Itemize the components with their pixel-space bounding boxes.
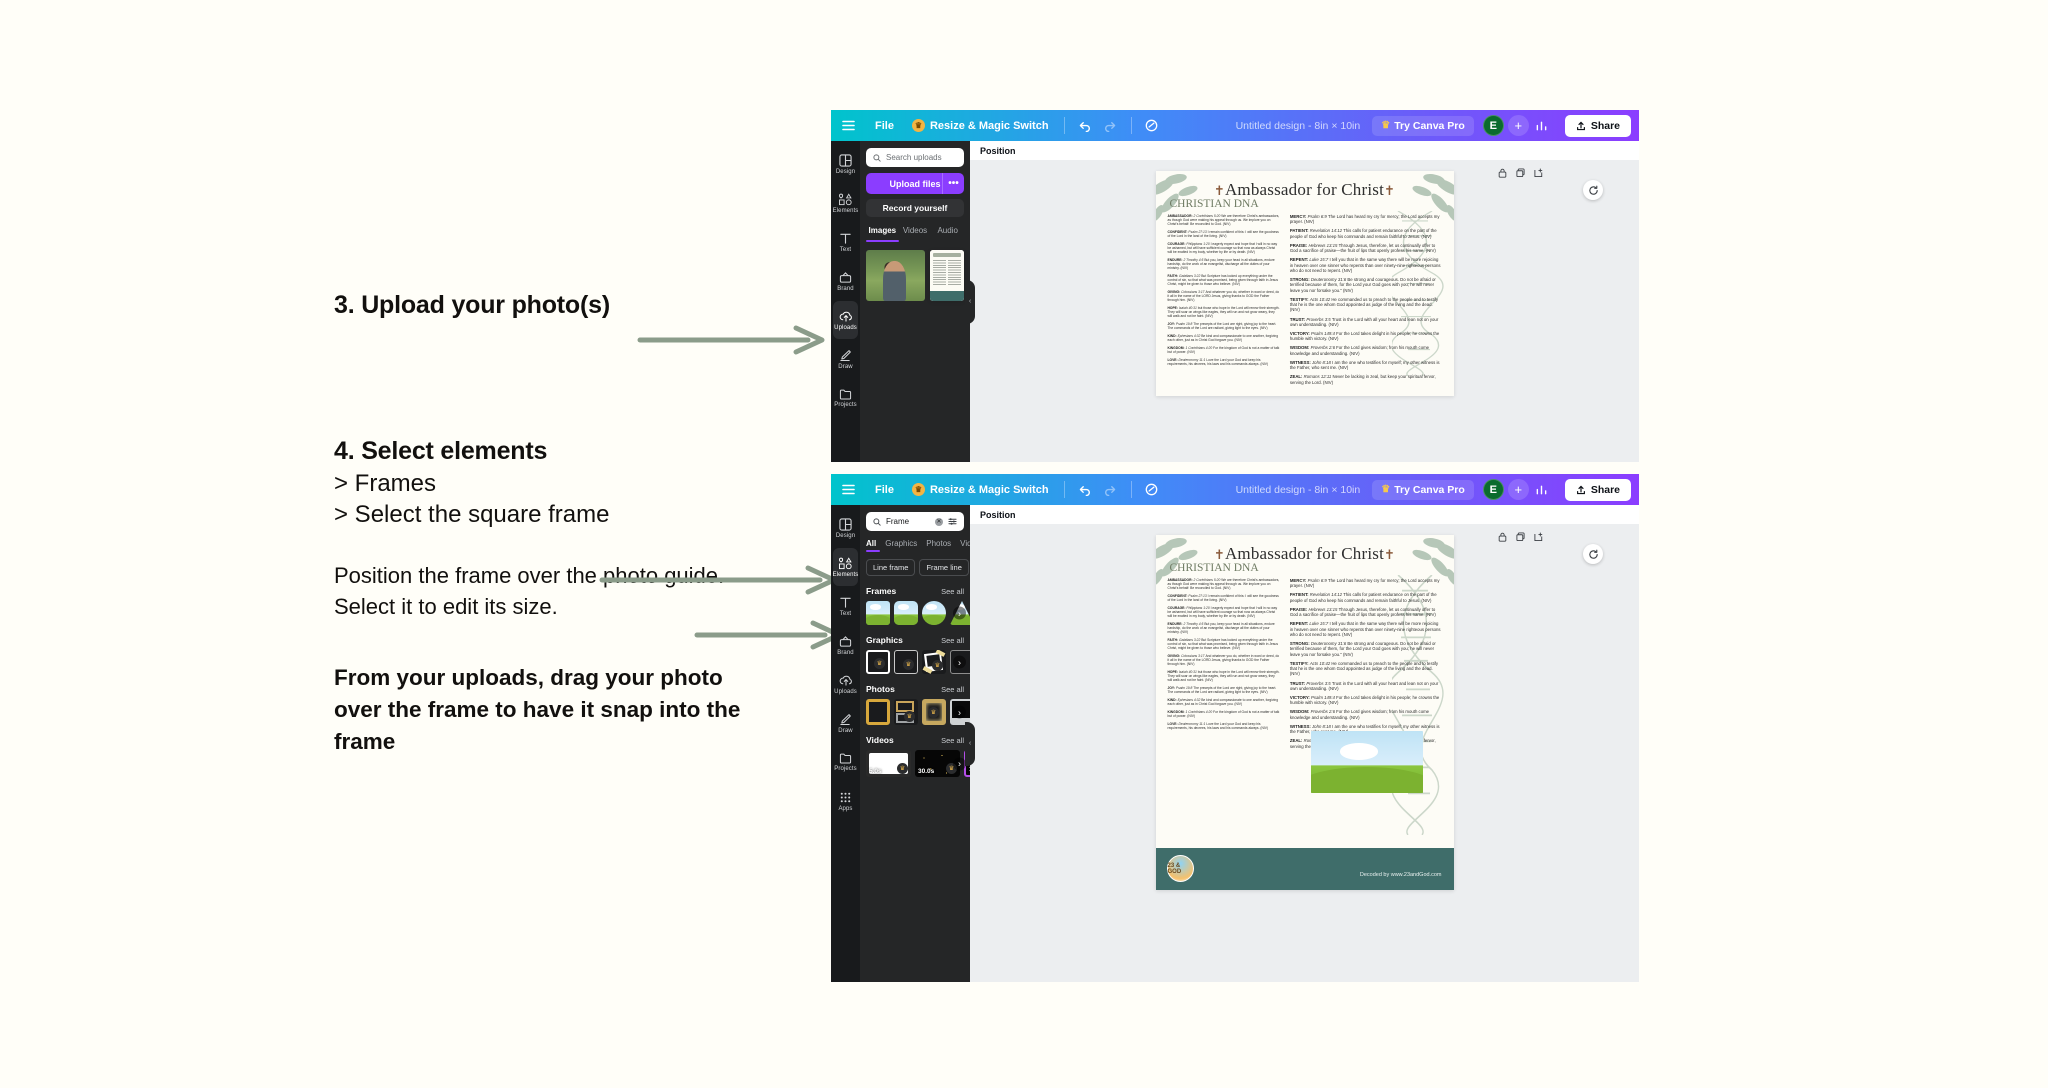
uploads-tabs: Images Videos Audio xyxy=(866,226,964,240)
hamburger-menu-icon[interactable] xyxy=(831,120,865,131)
upload-thumbnail-photo[interactable] xyxy=(866,250,925,301)
instructions-column: 3. Upload your photo(s) 4. Select elemen… xyxy=(334,290,814,758)
share-label: Share xyxy=(1591,120,1620,132)
sidebar-item-brand[interactable]: Brand xyxy=(833,262,858,300)
sidebar-label: Draw xyxy=(838,728,852,734)
scripture-verse: STRONG: Deuteronomy 31:6 Be strong and c… xyxy=(1290,641,1442,657)
divider xyxy=(1064,117,1065,134)
step4-line1: > Frames xyxy=(334,468,814,499)
position-bar-2: Position xyxy=(970,505,1639,524)
share-icon xyxy=(1576,485,1586,495)
panel-collapse-handle[interactable]: ‹ xyxy=(965,280,975,324)
projects-icon xyxy=(839,388,852,400)
search-icon xyxy=(873,154,881,162)
cloud-saved-icon[interactable] xyxy=(1139,478,1165,502)
graphics-row: ♛ ♛ ♛ › xyxy=(866,650,964,674)
scripture-verse: COURAGE: Philippians 1:20 I eagerly expe… xyxy=(1168,606,1280,618)
resize-magic-switch-button[interactable]: ♛ Resize & Magic Switch xyxy=(904,119,1057,132)
section-header-photos: Photos See all xyxy=(866,684,964,694)
design-document-1[interactable]: ✝Ambassador for Christ✝ CHRISTIAN DNA AM… xyxy=(1156,171,1454,396)
video-duration: 30.0s xyxy=(918,768,934,775)
document-title-text: Ambassador for Christ xyxy=(1225,544,1384,563)
document-right-column: MERCY: Psalm 6:9 The Lord has heard my c… xyxy=(1290,214,1442,389)
design-icon xyxy=(839,154,852,167)
sidebar-label: Projects xyxy=(834,402,856,408)
sidebar-label: Design xyxy=(836,169,855,175)
tutorial-page: 3. Upload your photo(s) 4. Select elemen… xyxy=(0,0,2048,1088)
sidebar-item-elements[interactable]: Elements xyxy=(833,184,858,222)
photo-gold-frame-item[interactable] xyxy=(866,699,890,725)
scripture-verse: MERCY: Psalm 6:9 The Lord has heard my c… xyxy=(1290,578,1442,588)
scripture-verse: TESTIFY: Acts 10:42 He commanded us to p… xyxy=(1290,661,1442,677)
insights-chart-icon[interactable] xyxy=(1529,478,1555,502)
search-uploads-field[interactable]: Search uploads xyxy=(866,148,964,167)
add-collaborator-button[interactable]: + xyxy=(1508,115,1529,136)
uploaded-images-grid xyxy=(866,250,964,301)
scripture-verse: HOPE: Isaiah 40:31 but those who hope in… xyxy=(1168,670,1280,682)
tab-all[interactable]: All xyxy=(866,539,876,548)
logo-text: 23 & GOD xyxy=(1168,863,1193,875)
section-header-videos: Videos See all xyxy=(866,735,964,745)
upload-thumbnail-document[interactable] xyxy=(930,250,964,301)
canvas-wrap-1: ✝Ambassador for Christ✝ CHRISTIAN DNA AM… xyxy=(970,160,1639,462)
record-yourself-button[interactable]: Record yourself xyxy=(866,199,964,217)
upload-files-label: Upload files xyxy=(889,179,940,189)
file-menu-button[interactable]: File xyxy=(865,120,904,132)
try-canva-pro-button[interactable]: ♛ Try Canva Pro xyxy=(1372,116,1474,136)
sidebar-label: Draw xyxy=(838,364,852,370)
share-icon xyxy=(1576,121,1586,131)
sidebar-item-projects[interactable]: Projects xyxy=(833,743,858,781)
arrow-to-uploads xyxy=(638,325,828,353)
avatar[interactable]: E xyxy=(1483,479,1504,500)
frame-preview xyxy=(894,601,918,625)
sidebar-item-text[interactable]: Text xyxy=(833,223,858,261)
tab-graphics[interactable]: Graphics xyxy=(885,539,917,548)
pro-crown-icon: ♛ xyxy=(903,659,914,670)
search-elements-field[interactable]: Frame ✕ xyxy=(866,512,964,531)
scripture-verse: LOVE: Deuteronomy 11:1 Love the Lord you… xyxy=(1168,358,1280,366)
add-page-icon[interactable] xyxy=(1534,165,1543,183)
canvas-area-2: Position xyxy=(970,505,1639,982)
sidebar-label: Elements xyxy=(833,208,859,214)
scripture-verse: TRUST: Proverbs 3:5 Trust in the Lord wi… xyxy=(1290,681,1442,691)
tab-videos[interactable]: Videos xyxy=(899,226,932,240)
scripture-verse: MERCY: Psalm 6:9 The Lord has heard my c… xyxy=(1290,214,1442,224)
upload-more-icon[interactable]: ••• xyxy=(942,173,964,194)
crown-icon: ♛ xyxy=(1381,484,1390,495)
hamburger-menu-icon[interactable] xyxy=(831,484,865,495)
photos-next-arrow[interactable]: › xyxy=(953,706,966,719)
document-columns: AMBASSADOR: 2 Corinthians 5:20 We are th… xyxy=(1156,574,1454,753)
share-label: Share xyxy=(1591,484,1620,496)
canvas-wrap-2: ✝Ambassador for Christ✝ CHRISTIAN DNA AM… xyxy=(970,524,1639,982)
sidebar-item-draw[interactable]: Draw xyxy=(833,704,858,742)
share-button[interactable]: Share xyxy=(1565,115,1631,137)
divider xyxy=(1131,481,1132,498)
share-button[interactable]: Share xyxy=(1565,479,1631,501)
tab-underline xyxy=(866,240,899,242)
elements-icon xyxy=(838,557,853,570)
refresh-suggestions-button[interactable] xyxy=(1583,180,1603,200)
panel-collapse-handle[interactable]: ‹ xyxy=(965,722,975,766)
avatar[interactable]: E xyxy=(1483,115,1504,136)
search-filter-chips: Line frame Frame line Frame square › xyxy=(866,559,964,576)
cross-icon: ✝ xyxy=(1214,547,1225,562)
sidebar-label: Design xyxy=(836,533,855,539)
sidebar-item-design[interactable]: Design xyxy=(833,145,858,183)
brand-icon xyxy=(839,635,852,648)
scripture-verse: TESTIFY: Acts 10:42 He commanded us to p… xyxy=(1290,297,1442,313)
elements-category-tabs: All Graphics Photos Videos Shapes › xyxy=(866,539,964,548)
section-header-frames: Frames See all xyxy=(866,586,964,596)
sidebar-item-design[interactable]: Design xyxy=(833,509,858,547)
lock-icon[interactable] xyxy=(1498,165,1507,183)
section-title: Photos xyxy=(866,684,895,694)
section-header-graphics: Graphics See all xyxy=(866,635,964,645)
see-all-frames-link[interactable]: See all xyxy=(941,587,964,596)
tab-images[interactable]: Images xyxy=(866,226,899,240)
document-title: ✝Ambassador for Christ✝ xyxy=(1156,171,1454,200)
photo-glitter-frame-item[interactable]: ♛ xyxy=(922,699,946,725)
position-bar-1: Position xyxy=(970,141,1639,160)
search-value: Frame xyxy=(886,517,909,526)
refresh-suggestions-button[interactable] xyxy=(1583,544,1603,564)
sidebar-item-draw[interactable]: Draw xyxy=(833,340,858,378)
sidebar-item-apps[interactable]: Apps xyxy=(833,782,858,820)
resize-label: Resize & Magic Switch xyxy=(930,484,1049,496)
frame-preview xyxy=(866,601,890,625)
redo-icon[interactable] xyxy=(1098,478,1124,502)
resize-label: Resize & Magic Switch xyxy=(930,120,1049,132)
upload-files-button[interactable]: Upload files ••• xyxy=(866,173,964,194)
scripture-verse: CONFIDENT: Psalm 27:13 I remain confiden… xyxy=(1168,230,1280,238)
scripture-verse: ENDURE: 2 Timothy 4:5 But you, keep your… xyxy=(1168,622,1280,634)
sidebar-label: Brand xyxy=(837,650,854,656)
scripture-verse: ENDURE: 2 Timothy 4:5 But you, keep your… xyxy=(1168,258,1280,270)
draw-icon xyxy=(839,713,852,726)
document-right-column: MERCY: Psalm 6:9 The Lord has heard my c… xyxy=(1290,578,1442,753)
document-credit: Decoded by www.23andGod.com xyxy=(1360,872,1442,878)
sidebar-item-elements[interactable]: Elements xyxy=(833,548,858,586)
document-title: ✝Ambassador for Christ✝ xyxy=(1156,535,1454,564)
try-canva-pro-button[interactable]: ♛ Try Canva Pro xyxy=(1372,480,1474,500)
sidebar-label: Text xyxy=(840,611,851,617)
page-tools-1 xyxy=(1498,165,1543,183)
scripture-verse: REPENT: Luke 15:7 I tell you that in the… xyxy=(1290,621,1442,637)
divider xyxy=(1064,481,1065,498)
lock-icon[interactable] xyxy=(1498,529,1507,547)
frame-square-item[interactable] xyxy=(866,601,890,625)
scripture-verse: LOVE: Deuteronomy 11:1 Love the Lord you… xyxy=(1168,722,1280,730)
scripture-verse: PATIENT: Revelation 14:12 This calls for… xyxy=(1290,228,1442,238)
sidebar-label: Elements xyxy=(833,572,859,578)
document-title-text: Ambassador for Christ xyxy=(1225,180,1384,199)
scripture-verse: VICTORY: Psalm 149:4 For the Lord takes … xyxy=(1290,331,1442,341)
undo-icon[interactable] xyxy=(1072,114,1098,138)
video-duration: 5.0s xyxy=(869,768,882,775)
scripture-verse: WISDOM: Proverbs 2:6 For the Lord gives … xyxy=(1290,709,1442,719)
pro-crown-icon: ♛ xyxy=(932,660,943,671)
topbar-1: File ♛ Resize & Magic Switch Untitled de… xyxy=(831,110,1639,141)
add-page-icon[interactable] xyxy=(1534,529,1543,547)
section-title: Videos xyxy=(866,735,894,745)
text-icon xyxy=(839,596,852,609)
crown-icon: ♛ xyxy=(1381,120,1390,131)
videos-row: 5.0s ♛ 30.0s ♛ 19.0s › xyxy=(866,750,964,777)
document-footer-band xyxy=(1156,848,1454,890)
document-left-column: AMBASSADOR: 2 Corinthians 5:20 We are th… xyxy=(1168,214,1280,389)
graphic-taped-polaroid-item[interactable]: ♛ xyxy=(922,650,946,674)
scripture-verse: JOY: Psalm 19:8 The precepts of the Lord… xyxy=(1168,322,1280,330)
cross-icon: ✝ xyxy=(1384,183,1395,198)
pro-label: Try Canva Pro xyxy=(1394,484,1465,496)
document-subtitle: CHRISTIAN DNA xyxy=(1156,198,1454,210)
undo-icon[interactable] xyxy=(1072,478,1098,502)
design-document-2[interactable]: ✝Ambassador for Christ✝ CHRISTIAN DNA AM… xyxy=(1156,535,1454,890)
scripture-verse: COURAGE: Philippians 1:20 I eagerly expe… xyxy=(1168,242,1280,254)
tab-photos[interactable]: Photos xyxy=(926,539,951,548)
design-title: Untitled design - 8in × 10in xyxy=(1236,120,1361,132)
tab-audio[interactable]: Audio xyxy=(931,226,964,240)
resize-magic-switch-button[interactable]: ♛ Resize & Magic Switch xyxy=(904,483,1057,496)
scripture-verse: FAITH: Galatians 3:22 But Scripture has … xyxy=(1168,638,1280,650)
step4-heading: 4. Select elements xyxy=(334,436,814,467)
topbar-2: File ♛ Resize & Magic Switch Untitled de… xyxy=(831,474,1639,505)
insights-chart-icon[interactable] xyxy=(1529,114,1555,138)
left-rail-2: Design Elements Text Brand Uploads xyxy=(831,505,860,982)
frame-circle-item[interactable] xyxy=(922,601,946,625)
scripture-verse: ZEAL: Romans 12:11 Never be lacking in z… xyxy=(1290,374,1442,384)
elements-panel: Frame ✕ All Graphics Photos Videos Shape… xyxy=(860,505,970,982)
placed-frame-element[interactable] xyxy=(1311,731,1423,793)
scripture-verse: CONFIDENT: Psalm 27:13 I remain confiden… xyxy=(1168,594,1280,602)
pro-label: Try Canva Pro xyxy=(1394,120,1465,132)
sidebar-label: Uploads xyxy=(834,325,857,331)
sidebar-item-projects[interactable]: Projects xyxy=(833,379,858,417)
cross-icon: ✝ xyxy=(1214,183,1225,198)
sidebar-label: Uploads xyxy=(834,689,857,695)
scripture-verse: PATIENT: Revelation 14:12 This calls for… xyxy=(1290,592,1442,602)
section-title: Graphics xyxy=(866,635,903,645)
person-photo-image xyxy=(866,250,925,301)
chip-line-frame[interactable]: Line frame xyxy=(866,559,915,576)
position-label: Position xyxy=(980,146,1016,156)
document-left-column: AMBASSADOR: 2 Corinthians 5:20 We are th… xyxy=(1168,578,1280,753)
see-all-videos-link[interactable]: See all xyxy=(941,736,964,745)
sidebar-label: Brand xyxy=(837,286,854,292)
step4-line2: > Select the square frame xyxy=(334,499,814,530)
arrow-to-square-frame xyxy=(695,620,845,648)
scripture-verse: VICTORY: Psalm 149:4 For the Lord takes … xyxy=(1290,695,1442,705)
chip-frame-line[interactable]: Frame line xyxy=(919,559,968,576)
canva-window-elements: File ♛ Resize & Magic Switch Untitled de… xyxy=(831,474,1639,982)
scripture-verse: PRAISE: Hebrews 13:15 Through Jesus, the… xyxy=(1290,243,1442,253)
canvas-area-1: Position xyxy=(970,141,1639,462)
draw-icon xyxy=(839,349,852,362)
redo-icon[interactable] xyxy=(1098,114,1124,138)
crown-icon: ♛ xyxy=(912,119,925,132)
record-label: Record yourself xyxy=(883,203,948,213)
divider xyxy=(1131,117,1132,134)
video-white-frame-item[interactable]: 5.0s ♛ xyxy=(866,750,911,777)
scripture-verse: KIND: Ephesians 4:32 Be kind and compass… xyxy=(1168,334,1280,342)
search-placeholder: Search uploads xyxy=(886,153,942,162)
see-all-graphics-link[interactable]: See all xyxy=(941,636,964,645)
uploads-panel: Search uploads Upload files ••• Record y… xyxy=(860,141,970,462)
frame-rounded-square-item[interactable] xyxy=(894,601,918,625)
design-title: Untitled design - 8in × 10in xyxy=(1236,484,1361,496)
sidebar-label: Projects xyxy=(834,766,856,772)
photos-row: ♛ ♛ › xyxy=(866,699,964,725)
scripture-verse: AMBASSADOR: 2 Corinthians 5:20 We are th… xyxy=(1168,214,1280,226)
brand-icon xyxy=(839,271,852,284)
search-icon xyxy=(873,518,881,526)
cross-icon: ✝ xyxy=(1384,547,1395,562)
frames-next-arrow[interactable]: › xyxy=(953,607,966,620)
file-menu-button[interactable]: File xyxy=(865,484,904,496)
scripture-verse: KINGDOM: 1 Corinthians 4:20 For the king… xyxy=(1168,710,1280,718)
frame-preview xyxy=(922,601,946,625)
graphic-white-frame-item[interactable]: ♛ xyxy=(866,650,890,674)
document-columns: AMBASSADOR: 2 Corinthians 5:20 We are th… xyxy=(1156,210,1454,389)
step4-paragraph-2: From your uploads, drag your photo over … xyxy=(334,662,744,758)
frame-preview-image xyxy=(1311,731,1423,793)
duplicate-page-icon[interactable] xyxy=(1516,529,1525,547)
sidebar-item-uploads[interactable]: Uploads xyxy=(833,665,858,703)
pro-crown-icon: ♛ xyxy=(874,658,885,669)
duplicate-page-icon[interactable] xyxy=(1516,165,1525,183)
section-title: Frames xyxy=(866,586,896,596)
uploads-icon xyxy=(839,674,853,687)
scripture-verse: KINGDOM: 1 Corinthians 4:20 For the king… xyxy=(1168,346,1280,354)
scripture-verse: JOY: Psalm 19:8 The precepts of the Lord… xyxy=(1168,686,1280,694)
frames-row: › xyxy=(866,601,964,625)
pro-crown-icon: ♛ xyxy=(904,711,915,722)
filter-settings-icon[interactable] xyxy=(948,517,957,526)
sidebar-item-uploads[interactable]: Uploads xyxy=(833,301,858,339)
pro-crown-icon: ♛ xyxy=(928,707,939,718)
sidebar-label: Apps xyxy=(838,806,852,812)
scripture-verse: HOPE: Isaiah 40:31 but those who hope in… xyxy=(1168,306,1280,318)
scripture-verse: WISDOM: Proverbs 2:6 For the Lord gives … xyxy=(1290,345,1442,355)
sidebar-label: Text xyxy=(840,247,851,253)
document-subtitle: CHRISTIAN DNA xyxy=(1156,562,1454,574)
scripture-verse: GIVING: Colossians 3:17 And whatever you… xyxy=(1168,290,1280,302)
scripture-verse: FAITH: Galatians 3:22 But Scripture has … xyxy=(1168,274,1280,286)
step3-heading: 3. Upload your photo(s) xyxy=(334,290,814,321)
scripture-verse: REPENT: Luke 15:7 I tell you that in the… xyxy=(1290,257,1442,273)
scripture-verse: KIND: Ephesians 4:32 Be kind and compass… xyxy=(1168,698,1280,706)
position-label: Position xyxy=(980,510,1016,520)
graphic-thin-frame-item[interactable]: ♛ xyxy=(894,650,918,674)
cloud-saved-icon[interactable] xyxy=(1139,114,1165,138)
scripture-verse: GIVING: Colossians 3:17 And whatever you… xyxy=(1168,654,1280,666)
elements-icon xyxy=(838,193,853,206)
see-all-photos-link[interactable]: See all xyxy=(941,685,964,694)
add-collaborator-button[interactable]: + xyxy=(1508,479,1529,500)
apps-icon xyxy=(839,791,852,804)
left-rail-1: Design Elements Text Brand Uploads xyxy=(831,141,860,462)
canva-window-uploads: File ♛ Resize & Magic Switch Untitled de… xyxy=(831,110,1639,462)
tab-underline xyxy=(866,550,880,552)
scripture-verse: AMBASSADOR: 2 Corinthians 5:20 We are th… xyxy=(1168,578,1280,590)
design-icon xyxy=(839,518,852,531)
pro-crown-icon: ♛ xyxy=(897,763,908,774)
crown-icon: ♛ xyxy=(912,483,925,496)
projects-icon xyxy=(839,752,852,764)
sidebar-item-brand[interactable]: Brand xyxy=(833,626,858,664)
scripture-verse: PRAISE: Hebrews 13:15 Through Jesus, the… xyxy=(1290,607,1442,617)
page-tools-2 xyxy=(1498,529,1543,547)
scripture-verse: STRONG: Deuteronomy 31:6 Be strong and c… xyxy=(1290,277,1442,293)
scripture-verse: WITNESS: John 8:18 I am the one who test… xyxy=(1290,360,1442,370)
photo-double-frame-item[interactable]: ♛ xyxy=(894,699,918,725)
sidebar-item-text[interactable]: Text xyxy=(833,587,858,625)
uploads-icon xyxy=(839,310,853,323)
clear-search-icon[interactable]: ✕ xyxy=(935,518,943,526)
brand-logo: 23 & GOD xyxy=(1167,855,1194,882)
scripture-verse: TRUST: Proverbs 3:5 Trust in the Lord wi… xyxy=(1290,317,1442,327)
arrow-to-elements xyxy=(600,565,840,593)
text-icon xyxy=(839,232,852,245)
graphics-next-arrow[interactable]: › xyxy=(953,656,966,669)
